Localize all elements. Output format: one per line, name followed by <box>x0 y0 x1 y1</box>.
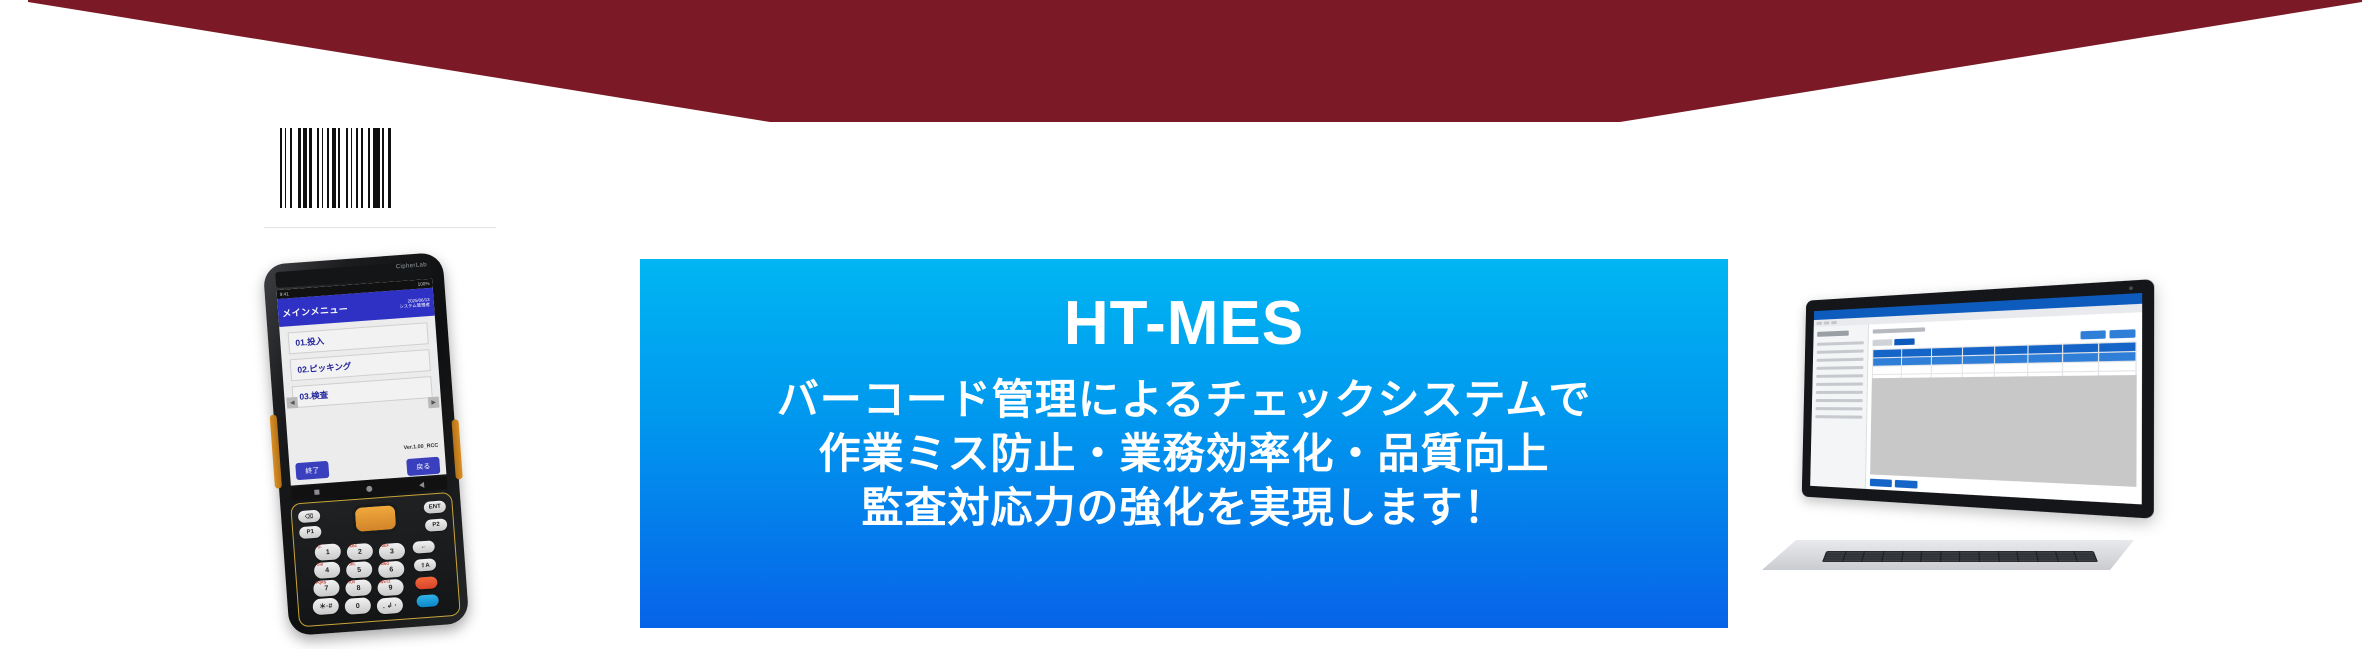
keyboard-key[interactable] <box>2077 559 2096 561</box>
key-enter[interactable]: ENT <box>423 500 446 514</box>
key-7[interactable]: PQRS7 <box>313 579 340 597</box>
key-2-label: 2 <box>358 548 362 555</box>
key-4-label: 4 <box>325 567 329 574</box>
handheld-back-button[interactable]: 戻る <box>406 457 440 476</box>
key-dot[interactable]: . ↲ · <box>376 597 403 615</box>
key-9[interactable]: WXYZ9 <box>377 579 404 597</box>
keyboard-row <box>1823 559 2097 561</box>
banner-line-3: 監査対応力の強化を実現します！ <box>777 481 1591 535</box>
app-footer-actions <box>1870 479 1918 489</box>
keyboard-key[interactable] <box>1843 559 1862 561</box>
handheld-app-title: メインメニュー <box>282 301 349 319</box>
app-page-title <box>1873 327 1925 333</box>
keyboard-key[interactable] <box>2058 559 2077 561</box>
banner-line-2: 作業ミス防止・業務効率化・品質向上 <box>777 427 1591 481</box>
sidebar-item[interactable] <box>1817 358 1864 362</box>
keyboard-key[interactable] <box>1882 559 1901 561</box>
key-p2[interactable]: P2 <box>425 518 448 532</box>
key-backspace[interactable]: ⌫ <box>298 510 321 524</box>
key-3[interactable]: DEF3 <box>378 542 405 560</box>
webcam-icon <box>2129 286 2133 290</box>
sidebar-item[interactable] <box>1816 382 1863 385</box>
handheld-menu-item-3[interactable]: 03.検査 <box>292 376 433 408</box>
toolbar-chip <box>1831 321 1837 324</box>
key-3-sup: DEF <box>381 545 388 549</box>
app-body <box>1810 312 2142 504</box>
key-1-sup: @. <box>317 546 322 550</box>
handheld-menu-item-2[interactable]: 02.ピッキング <box>290 349 431 381</box>
key-7-label: 7 <box>324 585 328 592</box>
key-5[interactable]: JKL5 <box>346 561 373 579</box>
app-header-actions <box>2081 329 2136 339</box>
handheld-prev-arrow-icon[interactable]: ◀ <box>286 397 298 409</box>
nav-back-triangle-icon[interactable] <box>419 481 424 487</box>
laptop-screen <box>1810 293 2142 504</box>
key-3-label: 3 <box>390 548 394 555</box>
keyboard-key[interactable] <box>1941 559 1960 561</box>
handheld-menu-list: 01.投入 02.ピッキング 03.検査 <box>279 316 441 409</box>
sidebar-item[interactable] <box>1815 415 1862 419</box>
keyboard-key[interactable] <box>2038 559 2057 561</box>
handheld-next-arrow-icon[interactable]: ▶ <box>428 397 440 409</box>
footer-action-button[interactable] <box>1895 480 1918 489</box>
key-7-sup: PQRS <box>316 581 326 585</box>
keyboard-key[interactable] <box>1980 559 1999 561</box>
key-9-sup: WXYZ <box>380 581 391 585</box>
key-1-label: 1 <box>326 548 330 555</box>
key-2[interactable]: ABC2 <box>346 543 373 561</box>
keyboard-key[interactable] <box>1862 559 1881 561</box>
product-title: HT-MES <box>1064 259 1304 355</box>
handheld-end-button[interactable]: 終了 <box>295 461 329 480</box>
key-8-label: 8 <box>356 584 360 591</box>
toolbar-chip <box>1816 322 1822 325</box>
key-6-label: 6 <box>389 566 393 573</box>
key-0[interactable]: 0 <box>344 597 371 615</box>
keyboard-key[interactable] <box>1823 559 1842 561</box>
key-4[interactable]: GHI4 <box>314 561 341 579</box>
toolbar-chip <box>1824 321 1830 324</box>
key-4-sup: GHI <box>317 563 324 567</box>
keyboard-key[interactable] <box>1960 559 1979 561</box>
handheld-screen: 9:41 100% メインメニュー 2025/06/13 システム管理者 01.… <box>276 279 446 486</box>
laptop-illustration <box>1762 300 2134 570</box>
key-1[interactable]: @.1 <box>314 543 341 561</box>
tab-item-active[interactable] <box>1894 338 1914 345</box>
sidebar-item[interactable] <box>1817 341 1864 346</box>
banner-line-1: バーコード管理によるチェックシステムで <box>777 373 1591 427</box>
banner-description: バーコード管理によるチェックシステムで 作業ミス防止・業務効率化・品質向上 監査… <box>777 373 1591 534</box>
key-blue-function[interactable] <box>416 594 439 608</box>
keyboard-key[interactable] <box>2019 559 2038 561</box>
sidebar-item[interactable] <box>1816 374 1863 378</box>
keyboard-key[interactable] <box>1902 559 1921 561</box>
laptop-keyboard[interactable] <box>1822 551 2098 562</box>
key-5-label: 5 <box>357 566 361 573</box>
keyboard-key[interactable] <box>1999 559 2018 561</box>
barcode-card <box>264 118 496 228</box>
key-8[interactable]: TUV8 <box>345 579 372 597</box>
laptop-lid <box>1802 279 2154 519</box>
sidebar-item[interactable] <box>1816 399 1863 402</box>
handheld-keypad: ⌫ ENT P1 P2 @.1 ABC2 DEF3 ← GHI4 JKL5 MN… <box>290 492 461 628</box>
key-delete[interactable]: ← <box>412 540 435 554</box>
barcode-bar <box>373 128 380 208</box>
key-shift[interactable]: ⇧A <box>414 558 437 572</box>
app-sidebar <box>1810 325 1869 489</box>
keyboard-key[interactable] <box>1921 559 1940 561</box>
handheld-status-battery: 100% <box>418 281 430 287</box>
nav-circle-icon[interactable] <box>366 485 372 491</box>
barcode-baseline <box>264 227 496 228</box>
handheld-header-meta: 2025/06/13 システム管理者 <box>399 297 430 309</box>
sidebar-item[interactable] <box>1816 391 1863 394</box>
key-p1[interactable]: P1 <box>299 526 322 540</box>
key-star[interactable]: ＊·# <box>312 597 339 615</box>
barcode-bar <box>391 128 393 208</box>
key-2-sup: ABC <box>349 545 357 549</box>
sidebar-item[interactable] <box>1817 349 1864 353</box>
hero-banner: HT-MES バーコード管理によるチェックシステムで 作業ミス防止・業務効率化・… <box>640 259 1728 628</box>
footer-action-button[interactable] <box>1870 479 1892 488</box>
key-5-sup: JKL <box>349 563 356 567</box>
barcode-graphic <box>280 128 480 208</box>
sidebar-heading <box>1817 331 1849 337</box>
key-6-sup: MNO <box>381 563 390 567</box>
app-main <box>1866 312 2142 504</box>
handheld-version-label: Ver.1.00_RCC <box>403 443 438 452</box>
app-content-area <box>1870 375 2137 487</box>
handheld-menu-item-1[interactable]: 01.投入 <box>288 322 429 354</box>
sidebar-item[interactable] <box>1816 407 1863 410</box>
scan-trigger-key[interactable] <box>351 502 399 535</box>
header-chevron-shape <box>0 0 2362 122</box>
key-6[interactable]: MNO6 <box>378 561 405 579</box>
key-red-function[interactable] <box>415 576 438 590</box>
nav-square-icon[interactable] <box>315 490 320 495</box>
header-action-button[interactable] <box>2081 330 2106 339</box>
key-8-sup: TUV <box>348 581 355 585</box>
handheld-terminal: CipherLab 9:41 100% メインメニュー 2025/06/13 シ… <box>263 252 470 636</box>
key-9-label: 9 <box>388 584 392 591</box>
header-action-button[interactable] <box>2110 329 2136 338</box>
handheld-status-time: 9:41 <box>280 291 289 297</box>
handheld-header-user: システム管理者 <box>399 302 430 309</box>
sidebar-item[interactable] <box>1816 366 1863 370</box>
tab-item[interactable] <box>1872 339 1892 346</box>
